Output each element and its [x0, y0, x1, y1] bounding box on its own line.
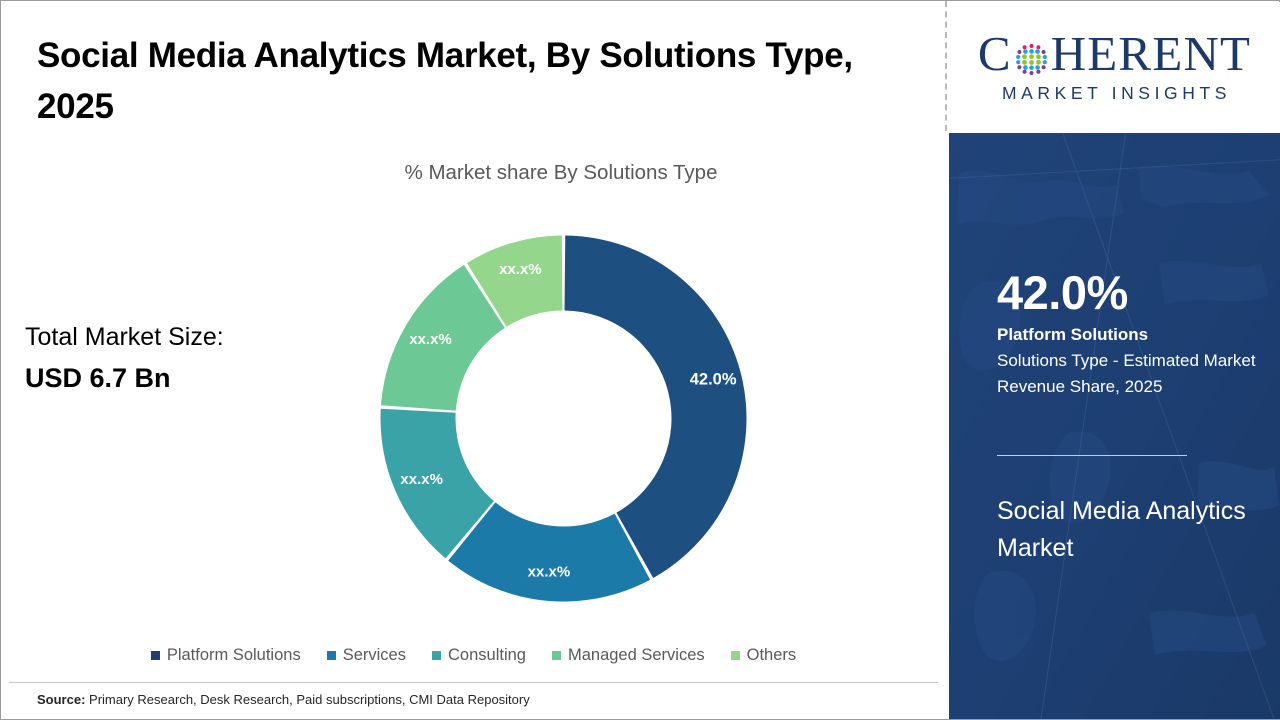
infographic-slide: Social Media Analytics Market, By Soluti…: [0, 0, 1280, 720]
legend-label: Consulting: [448, 646, 526, 665]
legend-label: Services: [343, 646, 406, 665]
logo-word-right: HERENT: [1051, 29, 1251, 78]
source-text: Primary Research, Desk Research, Paid su…: [85, 692, 529, 707]
legend-item[interactable]: Managed Services: [552, 646, 705, 665]
total-market-size-label: Total Market Size:: [25, 323, 224, 352]
legend-item[interactable]: Others: [731, 646, 797, 665]
legend-swatch-icon: [552, 651, 561, 660]
slice-label: xx.x%: [499, 261, 542, 278]
logo-wordmark: C: [965, 27, 1265, 79]
source-divider: [9, 682, 938, 683]
company-logo: C: [949, 2, 1280, 133]
legend-label: Managed Services: [568, 646, 705, 665]
chart-panel: Social Media Analytics Market, By Soluti…: [1, 1, 946, 719]
stat-divider: [997, 455, 1187, 456]
logo-word-left: C: [978, 29, 1012, 78]
market-name: Social Media Analytics Market: [997, 493, 1247, 567]
stat-segment-name: Platform Solutions: [997, 325, 1148, 345]
brand-panel: C: [949, 1, 1280, 719]
panel-divider: [945, 1, 947, 131]
stat-description: Solutions Type - Estimated Market Revenu…: [997, 348, 1265, 401]
legend-swatch-icon: [327, 651, 336, 660]
stat-percentage: 42.0%: [997, 269, 1128, 316]
legend-swatch-icon: [731, 651, 740, 660]
slice-label: xx.x%: [528, 563, 571, 580]
legend-swatch-icon: [151, 651, 160, 660]
legend-label: Others: [747, 646, 797, 665]
legend-item[interactable]: Services: [327, 646, 406, 665]
legend-item[interactable]: Consulting: [432, 646, 526, 665]
chart-subtitle: % Market share By Solutions Type: [181, 161, 941, 185]
slice-label: xx.x%: [400, 471, 443, 488]
legend-label: Platform Solutions: [167, 646, 301, 665]
globe-dots-icon: [1013, 37, 1050, 74]
legend-item[interactable]: Platform Solutions: [151, 646, 301, 665]
slice-label: xx.x%: [409, 331, 452, 348]
total-market-size-value: USD 6.7 Bn: [25, 363, 171, 394]
stat-panel: 42.0% Platform Solutions Solutions Type …: [949, 133, 1280, 719]
donut-chart: 42.0%xx.x%xx.x%xx.x%xx.x%: [376, 231, 751, 606]
source-label: Source:: [37, 692, 85, 707]
source-note: Source: Primary Research, Desk Research,…: [37, 692, 530, 707]
slice-label: 42.0%: [690, 370, 737, 388]
chart-legend: Platform SolutionsServicesConsultingMana…: [1, 646, 946, 665]
page-title: Social Media Analytics Market, By Soluti…: [37, 31, 867, 133]
logo-tagline: MARKET INSIGHTS: [965, 83, 1265, 104]
donut-chart-svg: 42.0%xx.x%xx.x%xx.x%xx.x%: [376, 231, 751, 606]
legend-swatch-icon: [432, 651, 441, 660]
